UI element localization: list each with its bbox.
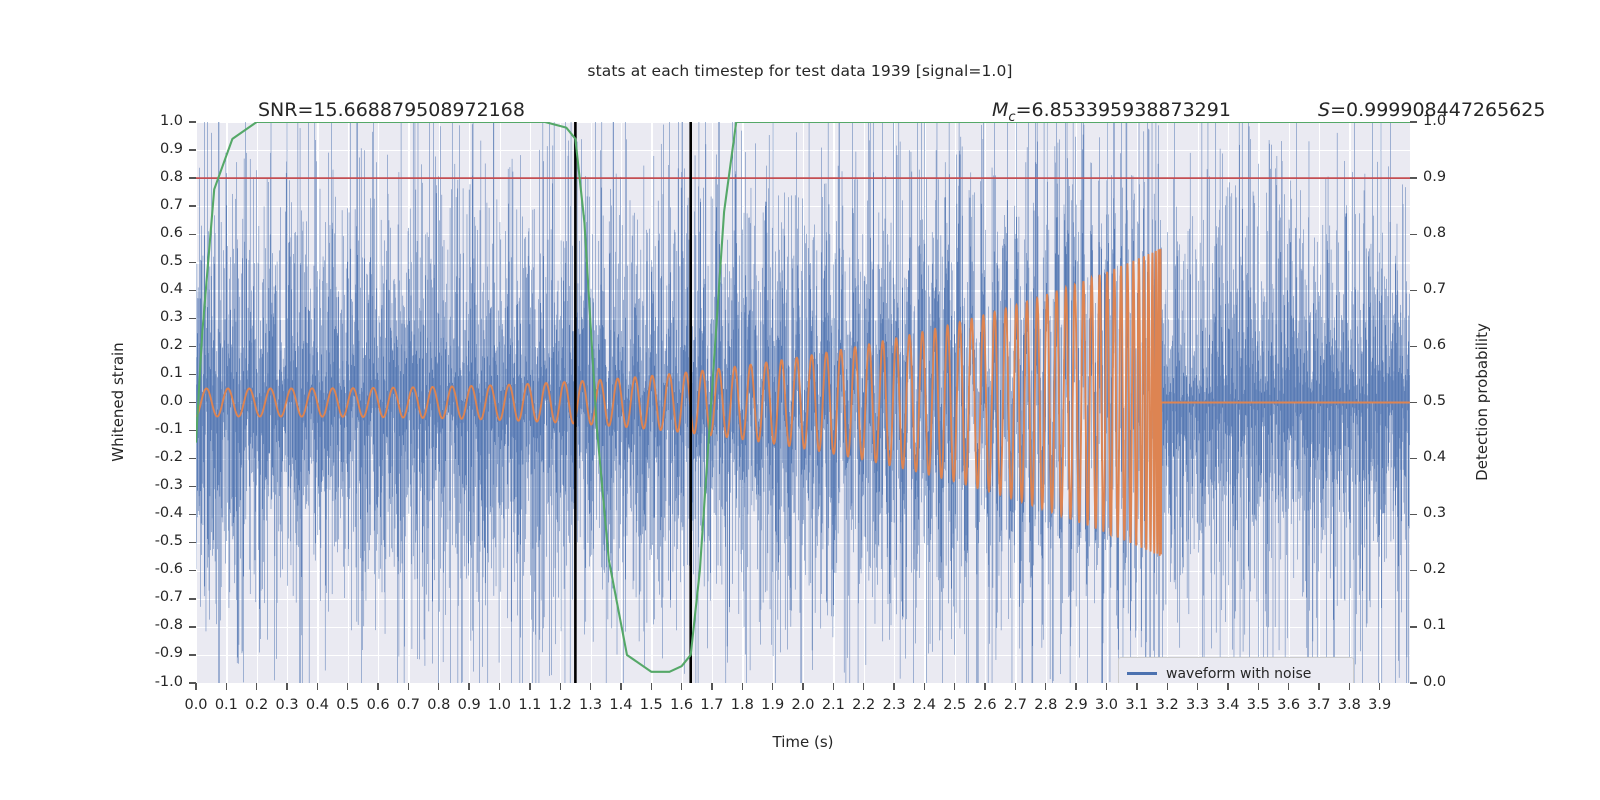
x-axis-tick-mark [560, 683, 561, 690]
x-axis-label: Time (s) [773, 733, 834, 751]
y-axis-right-tick-mark [1410, 682, 1417, 683]
x-axis-tick-label: 3.2 [1156, 697, 1179, 713]
x-axis-tick-label: 1.8 [731, 697, 754, 713]
x-axis-tick-mark [954, 683, 955, 690]
y-axis-right-tick-mark [1410, 177, 1417, 178]
x-axis-tick-label: 3.4 [1216, 697, 1239, 713]
y-axis-right-tick-mark [1410, 570, 1417, 571]
annotation-chirp-mass: Mc=6.853395938873291 [992, 99, 1231, 125]
x-axis-tick-mark [620, 683, 621, 690]
y-axis-left-tick-label: -0.9 [155, 645, 183, 661]
x-axis-tick-label: 0.6 [367, 697, 390, 713]
x-axis-tick-mark [1015, 683, 1016, 690]
annotation-mc-value: 6.853395938873291 [1031, 99, 1230, 121]
x-axis-tick-label: 2.6 [974, 697, 997, 713]
x-axis-tick-mark [195, 683, 196, 690]
y-axis-right-tick-label: 0.3 [1423, 505, 1446, 521]
legend-swatch-blue [1127, 672, 1157, 675]
x-axis-tick-label: 2.4 [913, 697, 936, 713]
x-axis-tick-mark [1136, 683, 1137, 690]
y-axis-left-tick-mark [189, 374, 196, 375]
y-axis-right-tick-label: 0.7 [1423, 281, 1446, 297]
y-axis-left-tick-mark [189, 262, 196, 263]
x-axis-tick-mark [408, 683, 409, 690]
y-axis-left-tick-mark [189, 177, 196, 178]
x-axis-tick-mark [772, 683, 773, 690]
x-axis-tick-mark [1197, 683, 1198, 690]
y-axis-left-tick-mark [189, 514, 196, 515]
plot-data-layer [196, 122, 1410, 683]
x-axis-tick-mark [529, 683, 530, 690]
y-axis-left-tick-label: 0.4 [160, 281, 183, 297]
x-axis-tick-mark [1258, 683, 1259, 690]
x-axis-tick-mark [317, 683, 318, 690]
y-axis-left-tick-mark [189, 402, 196, 403]
x-axis-tick-mark [863, 683, 864, 690]
x-axis-tick-label: 2.8 [1034, 697, 1057, 713]
x-axis-tick-label: 1.7 [700, 697, 723, 713]
x-axis-tick-label: 1.6 [670, 697, 693, 713]
x-axis-tick-label: 2.1 [822, 697, 845, 713]
y-axis-left-tick-label: 0.7 [160, 197, 183, 213]
annotation-mc-label: M [992, 99, 1008, 121]
y-axis-left-tick-label: -0.5 [155, 533, 183, 549]
y-axis-left-tick-label: 0.3 [160, 309, 183, 325]
x-axis-tick-label: 2.2 [852, 697, 875, 713]
y-axis-left-tick-mark [189, 318, 196, 319]
x-axis-tick-label: 1.4 [609, 697, 632, 713]
x-axis-tick-mark [1167, 683, 1168, 690]
x-axis-tick-mark [1288, 683, 1289, 690]
legend[interactable]: waveform with noise waveform without noi… [1118, 657, 1354, 683]
y-axis-right-tick-mark [1410, 458, 1417, 459]
x-axis-tick-label: 3.8 [1338, 697, 1361, 713]
figure-canvas: stats at each timestep for test data 193… [0, 0, 1600, 800]
y-axis-left-tick-mark [189, 598, 196, 599]
y-axis-left-tick-mark [189, 542, 196, 543]
y-axis-left-tick-mark [189, 290, 196, 291]
x-axis-tick-label: 2.9 [1065, 697, 1088, 713]
annotation-s-label: S [1318, 99, 1330, 121]
y-axis-right-tick-label: 0.6 [1423, 337, 1446, 353]
x-axis-tick-mark [1075, 683, 1076, 690]
y-axis-right-tick-mark [1410, 514, 1417, 515]
y-axis-right-tick-label: 0.1 [1423, 617, 1446, 633]
y-axis-right-tick-mark [1410, 234, 1417, 235]
x-axis-tick-label: 1.1 [518, 697, 541, 713]
y-axis-left-tick-label: 0.2 [160, 337, 183, 353]
x-axis-tick-label: 1.5 [640, 697, 663, 713]
y-axis-right-tick-label: 0.9 [1423, 169, 1446, 185]
x-axis-tick-label: 0.0 [184, 697, 207, 713]
y-axis-left-tick-label: -0.2 [155, 449, 183, 465]
x-axis-tick-mark [924, 683, 925, 690]
y-axis-right-tick-mark [1410, 290, 1417, 291]
x-axis-tick-mark [347, 683, 348, 690]
y-axis-left-tick-label: -0.8 [155, 617, 183, 633]
x-axis-tick-mark [590, 683, 591, 690]
plot-area[interactable]: waveform with noise waveform without noi… [196, 122, 1410, 683]
x-axis-tick-label: 0.1 [215, 697, 238, 713]
page-title: stats at each timestep for test data 193… [0, 62, 1600, 80]
y-axis-right-tick-mark [1410, 346, 1417, 347]
x-axis-tick-mark [499, 683, 500, 690]
x-axis-tick-label: 0.8 [427, 697, 450, 713]
x-axis-tick-label: 1.2 [549, 697, 572, 713]
x-axis-tick-label: 0.7 [397, 697, 420, 713]
y-axis-right-tick-label: 0.4 [1423, 449, 1446, 465]
annotation-snr-label: SNR= [258, 99, 313, 121]
x-axis-tick-mark [286, 683, 287, 690]
legend-item-waveform-with-noise[interactable]: waveform with noise [1127, 663, 1345, 683]
x-axis-tick-label: 0.4 [306, 697, 329, 713]
y-axis-right-tick-label: 0.0 [1423, 674, 1446, 690]
x-axis-tick-mark [438, 683, 439, 690]
x-axis-tick-mark [1318, 683, 1319, 690]
y-axis-left-tick-label: -0.3 [155, 477, 183, 493]
y-axis-left-tick-label: 0.0 [160, 393, 183, 409]
x-axis-tick-label: 2.3 [883, 697, 906, 713]
y-axis-right-tick-label: 0.8 [1423, 225, 1446, 241]
y-axis-left-tick-mark [189, 121, 196, 122]
x-axis-tick-label: 2.5 [943, 697, 966, 713]
y-axis-left-tick-mark [189, 626, 196, 627]
x-axis-tick-mark [651, 683, 652, 690]
x-axis-tick-mark [1227, 683, 1228, 690]
annotation-s-value: 0.999908447265625 [1346, 99, 1545, 121]
y-axis-left-tick-label: -0.4 [155, 505, 183, 521]
annotation-snr-value: 15.668879508972168 [313, 99, 525, 121]
x-axis-tick-label: 2.7 [1004, 697, 1027, 713]
x-axis-tick-label: 0.3 [276, 697, 299, 713]
y-axis-left-tick-label: 0.1 [160, 365, 183, 381]
x-axis-tick-label: 3.3 [1186, 697, 1209, 713]
x-axis-tick-mark [893, 683, 894, 690]
x-axis-tick-label: 2.0 [791, 697, 814, 713]
y-axis-left-tick-mark [189, 654, 196, 655]
x-axis-tick-mark [984, 683, 985, 690]
x-axis-tick-label: 3.9 [1368, 697, 1391, 713]
y-axis-left-tick-mark [189, 205, 196, 206]
x-axis-tick-label: 3.5 [1247, 697, 1270, 713]
legend-label-0: waveform with noise [1166, 666, 1311, 682]
annotation-mc-subscript: c [1008, 110, 1015, 125]
x-axis-tick-mark [468, 683, 469, 690]
y-axis-right-tick-mark [1410, 626, 1417, 627]
x-axis-tick-mark [226, 683, 227, 690]
x-axis-tick-mark [711, 683, 712, 690]
y-axis-right-tick-label: 0.2 [1423, 561, 1446, 577]
x-axis-tick-mark [256, 683, 257, 690]
y-axis-left-tick-mark [189, 234, 196, 235]
x-axis-tick-label: 1.3 [579, 697, 602, 713]
x-axis-tick-mark [1045, 683, 1046, 690]
y-axis-left-tick-label: -0.6 [155, 561, 183, 577]
y-axis-left-tick-label: 1.0 [160, 113, 183, 129]
y-axis-right-tick-label: 0.5 [1423, 393, 1446, 409]
x-axis-tick-mark [833, 683, 834, 690]
y-axis-right-tick-mark [1410, 402, 1417, 403]
x-axis-tick-label: 3.7 [1307, 697, 1330, 713]
y-axis-left-tick-mark [189, 458, 196, 459]
y-axis-left-tick-mark [189, 346, 196, 347]
annotation-s-equals: = [1330, 99, 1346, 121]
x-axis-tick-mark [742, 683, 743, 690]
y-axis-left-tick-label: -0.1 [155, 421, 183, 437]
annotation-snr: SNR=15.668879508972168 [258, 99, 525, 121]
y-axis-left-tick-mark [189, 149, 196, 150]
y-axis-left-tick-label: -0.7 [155, 589, 183, 605]
x-axis-tick-mark [1379, 683, 1380, 690]
y-axis-left-tick-label: 0.5 [160, 253, 183, 269]
x-axis-tick-label: 0.5 [336, 697, 359, 713]
x-axis-tick-label: 3.0 [1095, 697, 1118, 713]
x-axis-tick-label: 0.9 [458, 697, 481, 713]
annotation-score: S=0.999908447265625 [1318, 99, 1545, 121]
y-axis-left-tick-label: 0.6 [160, 225, 183, 241]
x-axis-tick-mark [1106, 683, 1107, 690]
x-axis-tick-mark [377, 683, 378, 690]
y-axis-left-tick-mark [189, 570, 196, 571]
x-axis-tick-label: 3.1 [1125, 697, 1148, 713]
x-axis-tick-label: 1.0 [488, 697, 511, 713]
y-axis-left-label: Whitened strain [109, 342, 127, 461]
x-axis-tick-label: 0.2 [245, 697, 268, 713]
y-axis-left-tick-label: 0.8 [160, 169, 183, 185]
x-axis-tick-mark [681, 683, 682, 690]
y-axis-left-tick-label: -1.0 [155, 674, 183, 690]
y-axis-left-tick-mark [189, 486, 196, 487]
x-axis-tick-label: 3.6 [1277, 697, 1300, 713]
x-axis-tick-label: 1.9 [761, 697, 784, 713]
y-axis-left-tick-label: 0.9 [160, 141, 183, 157]
annotation-mc-equals: = [1016, 99, 1032, 121]
x-axis-tick-mark [802, 683, 803, 690]
y-axis-right-label: Detection probability [1473, 323, 1491, 481]
y-axis-right-tick-mark [1410, 121, 1417, 122]
y-axis-left-tick-mark [189, 430, 196, 431]
x-axis-tick-mark [1349, 683, 1350, 690]
